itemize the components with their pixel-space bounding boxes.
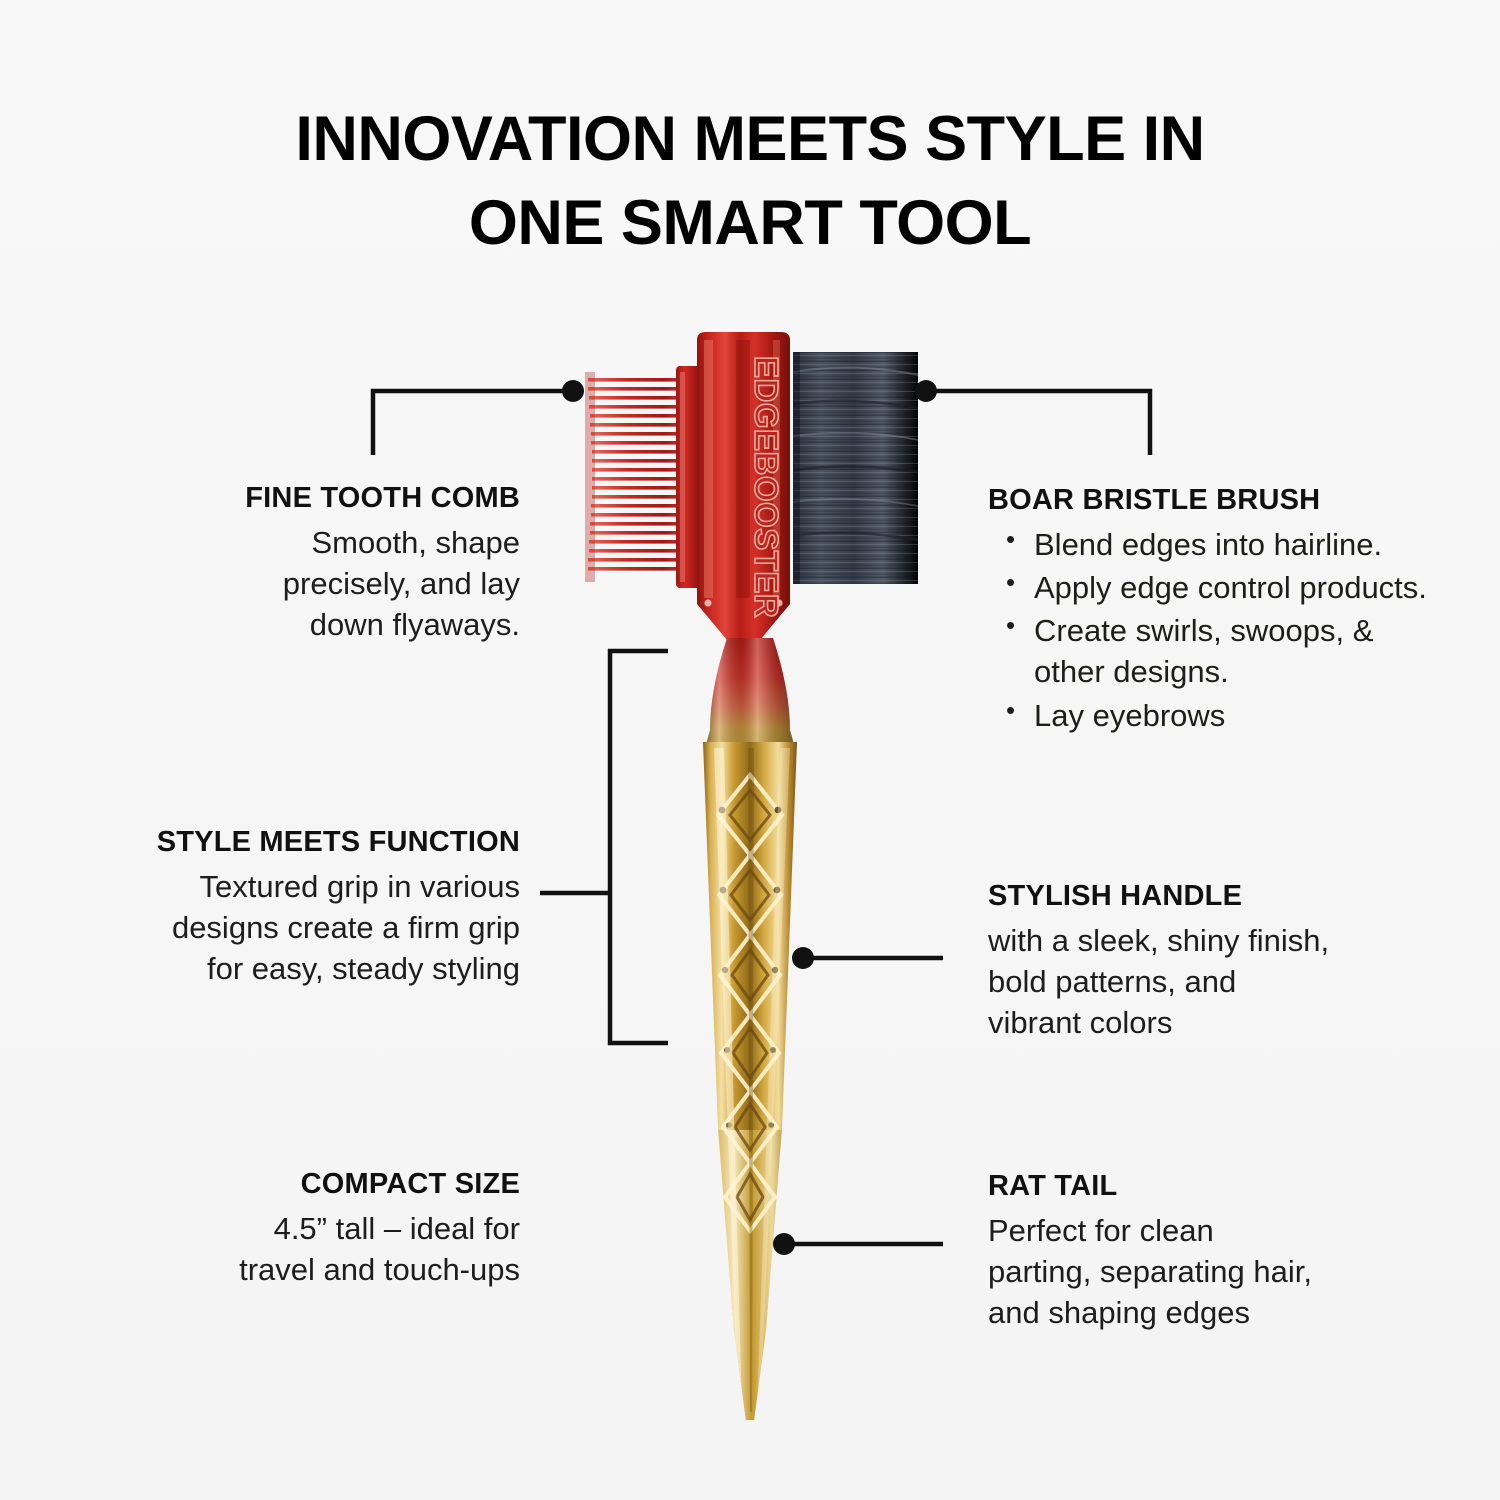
callout-title-fine-tooth-comb: FINE TOOTH COMB: [150, 482, 520, 516]
callout-line: Textured grip in various: [88, 866, 520, 907]
callout-stylish-handle: STYLISH HANDLE with a sleek, shiny finis…: [988, 880, 1388, 1043]
callout-line: precisely, and lay: [150, 563, 520, 604]
callout-line: 4.5” tall – ideal for: [168, 1208, 520, 1249]
callout-body-fine-tooth-comb: Smooth, shape precisely, and lay down fl…: [150, 522, 520, 646]
callout-line: designs create a firm grip: [88, 907, 520, 948]
product-head: EDGEBOOSTER: [697, 332, 790, 640]
callout-title-compact-size: COMPACT SIZE: [168, 1168, 520, 1202]
boar-bristle-part: [793, 352, 918, 584]
callout-line: for easy, steady styling: [88, 948, 520, 989]
callout-line: Perfect for clean: [988, 1210, 1388, 1251]
brand-label: EDGEBOOSTER: [748, 356, 785, 618]
callout-style-meets-function: STYLE MEETS FUNCTION Textured grip in va…: [88, 826, 520, 989]
callout-title-style-meets-function: STYLE MEETS FUNCTION: [88, 826, 520, 860]
callout-line: parting, separating hair,: [988, 1251, 1388, 1292]
list-item: Apply edge control products.: [988, 567, 1428, 608]
callout-line: bold patterns, and: [988, 961, 1388, 1002]
list-item: Lay eyebrows: [988, 695, 1428, 736]
callout-body-rat-tail: Perfect for clean parting, separating ha…: [988, 1210, 1388, 1334]
product-neck: [705, 638, 795, 748]
callout-title-boar-bristle-brush: BOAR BRISTLE BRUSH: [988, 484, 1428, 518]
callout-rat-tail: RAT TAIL Perfect for clean parting, sepa…: [988, 1170, 1388, 1333]
callout-line: down flyaways.: [150, 604, 520, 645]
callout-line: Smooth, shape: [150, 522, 520, 563]
stylish-handle-part: [700, 742, 800, 1430]
callout-bullet-list-boar-bristle-brush: Blend edges into hairline. Apply edge co…: [988, 524, 1428, 736]
product-infographic: INNOVATION MEETS STYLE IN ONE SMART TOOL: [0, 0, 1500, 1500]
callout-title-rat-tail: RAT TAIL: [988, 1170, 1388, 1204]
callout-title-stylish-handle: STYLISH HANDLE: [988, 880, 1388, 914]
callout-fine-tooth-comb: FINE TOOTH COMB Smooth, shape precisely,…: [150, 482, 520, 645]
callout-line: and shaping edges: [988, 1292, 1388, 1333]
callout-body-compact-size: 4.5” tall – ideal for travel and touch-u…: [168, 1208, 520, 1290]
callout-body-style-meets-function: Textured grip in various designs create …: [88, 866, 520, 990]
callout-line: vibrant colors: [988, 1002, 1388, 1043]
callout-line: travel and touch-ups: [168, 1249, 520, 1290]
list-item: Create swirls, swoops, & other designs.: [988, 610, 1428, 692]
list-item: Blend edges into hairline.: [988, 524, 1428, 565]
callout-body-stylish-handle: with a sleek, shiny finish, bold pattern…: [988, 920, 1388, 1044]
callout-boar-bristle-brush: BOAR BRISTLE BRUSH Blend edges into hair…: [988, 484, 1428, 738]
callout-compact-size: COMPACT SIZE 4.5” tall – ideal for trave…: [168, 1168, 520, 1290]
callout-line: with a sleek, shiny finish,: [988, 920, 1388, 961]
fine-tooth-comb-part: [585, 366, 702, 588]
